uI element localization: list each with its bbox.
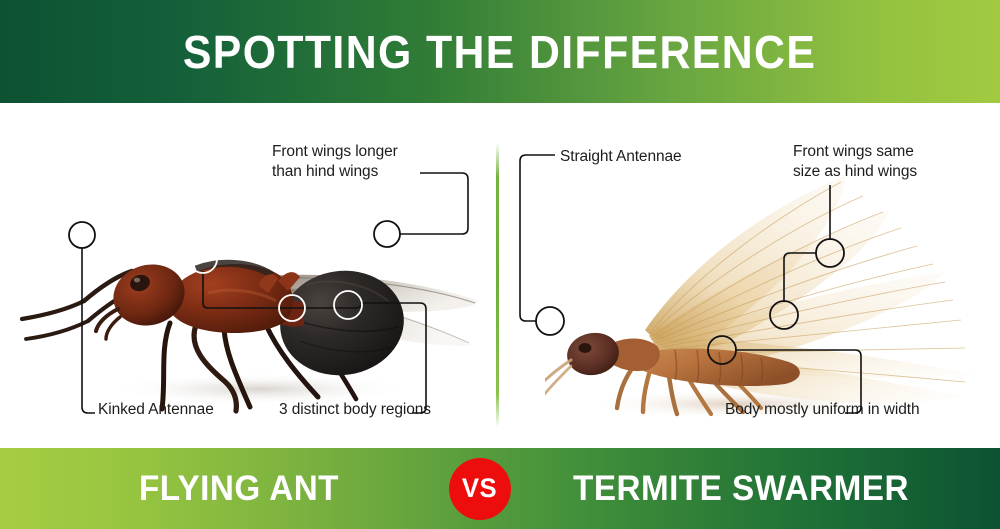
comparison-area: Front wings longer than hind wings Kinke…: [0, 103, 1000, 448]
footer-content: FLYING ANT VS TERMITE SWARMER: [0, 458, 1000, 520]
callout-front-wings-same: Front wings same size as hind wings: [793, 142, 983, 183]
panel-flying-ant: Front wings longer than hind wings Kinke…: [0, 103, 496, 448]
callout-body-uniform-width: Body mostly uniform in width: [725, 400, 919, 420]
footer-label-termite-swarmer: TERMITE SWARMER: [523, 469, 960, 509]
infographic-root: SPOTTING THE DIFFERENCE: [0, 0, 1000, 529]
vs-badge: VS: [449, 458, 511, 520]
termite-head: [564, 329, 623, 379]
panel-termite-swarmer: Straight Antennae Front wings same size …: [499, 103, 1000, 448]
vs-label: VS: [462, 473, 497, 504]
footer-label-flying-ant: FLYING ANT: [40, 469, 439, 509]
callout-three-body-regions: 3 distinct body regions: [279, 400, 431, 420]
header-band: SPOTTING THE DIFFERENCE: [0, 0, 1000, 103]
flying-ant-image: [10, 173, 480, 423]
page-title: SPOTTING THE DIFFERENCE: [183, 25, 816, 79]
termite-swarmer-image: [545, 168, 985, 433]
callout-kinked-antennae: Kinked Antennae: [98, 400, 214, 420]
callout-front-wings-longer: Front wings longer than hind wings: [272, 142, 462, 183]
callout-straight-antennae: Straight Antennae: [560, 147, 682, 167]
panel-divider: [496, 143, 499, 428]
ant-head: [106, 256, 192, 334]
footer-band: FLYING ANT VS TERMITE SWARMER: [0, 448, 1000, 529]
